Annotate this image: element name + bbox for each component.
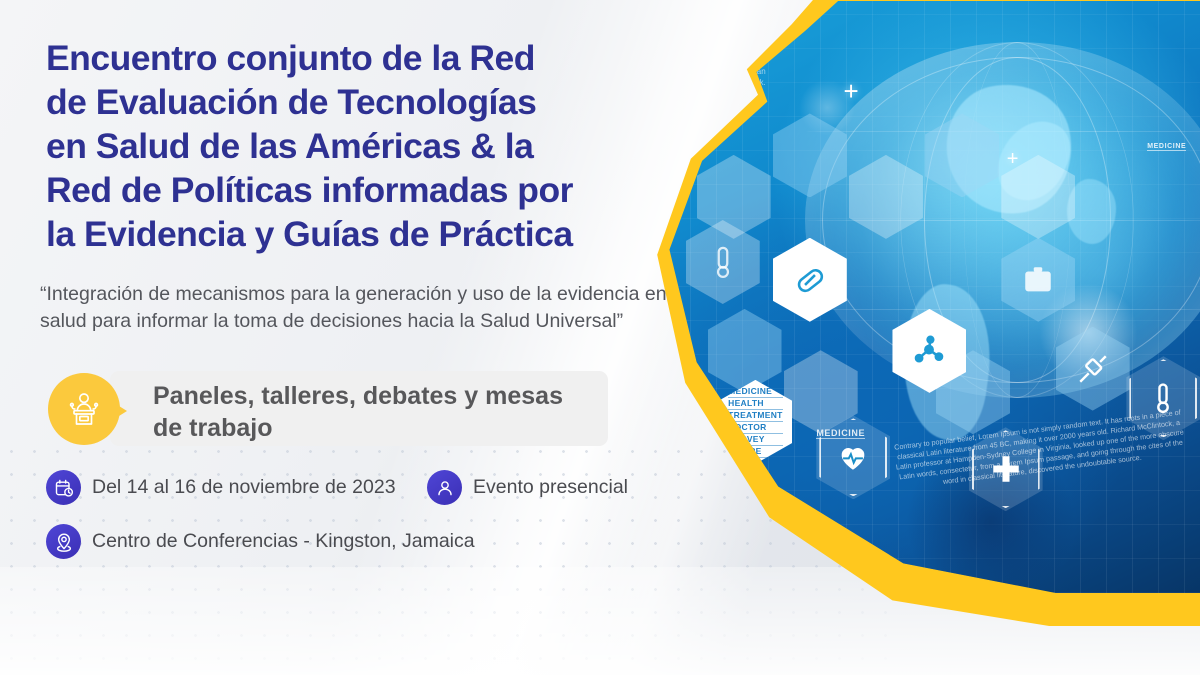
event-date: Del 14 al 16 de noviembre de 2023 xyxy=(92,476,396,499)
page-title: Encuentro conjunto de la Red de Evaluaci… xyxy=(46,36,656,256)
info-item-modality: Evento presencial xyxy=(427,470,628,505)
activities-label: Paneles, talleres, debates y mesas de tr… xyxy=(153,380,573,444)
info-item-venue: Centro de Conferencias - Kingston, Jamai… xyxy=(46,524,475,559)
calendar-clock-icon xyxy=(46,470,81,505)
event-venue: Centro de Conferencias - Kingston, Jamai… xyxy=(92,530,475,553)
event-theme-quote: “Integración de mecanismos para la gener… xyxy=(40,281,680,335)
info-item-date: Del 14 al 16 de noviembre de 2023 xyxy=(46,470,396,505)
hero-medicine-tag: MEDICINE xyxy=(1147,143,1186,151)
event-modality: Evento presencial xyxy=(473,476,628,499)
hex-tile xyxy=(708,309,782,393)
hex-tile xyxy=(773,113,847,197)
person-icon xyxy=(427,470,462,505)
title-line: en Salud de las Américas & la xyxy=(46,124,656,168)
speaker-podium-icon xyxy=(48,373,120,445)
title-line: Encuentro conjunto de la Red xyxy=(46,36,656,80)
pill-icon xyxy=(773,238,847,322)
location-pin-icon xyxy=(46,524,81,559)
title-line: la Evidencia y Guías de Práctica xyxy=(46,212,656,256)
hero-medicine-tag: MEDICINE xyxy=(816,428,865,439)
hero-image-container: standard when an type and en book. + + xyxy=(646,0,1200,626)
hex-tile xyxy=(925,113,999,197)
hex-tile xyxy=(1001,155,1075,239)
hex-tile xyxy=(849,155,923,239)
syringe-icon xyxy=(1056,327,1130,411)
hexagon-icon-grid: MEDICINE HEALTH TREATMENT DOCTOR SURVEY … xyxy=(664,1,1200,593)
first-aid-kit-icon xyxy=(1001,238,1075,322)
activities-highlight: Paneles, talleres, debates y mesas de tr… xyxy=(48,371,608,449)
partner-logo-bar: OPS Organización Panamericana de la Salu… xyxy=(0,575,1200,675)
event-poster: standard when an type and en book. + + xyxy=(0,0,1200,675)
medical-technology-globe-image: standard when an type and en book. + + xyxy=(664,1,1200,593)
title-line: Red de Políticas informadas por xyxy=(46,168,656,212)
thermometer-icon xyxy=(686,220,760,304)
title-line: de Evaluación de Tecnologías xyxy=(46,80,656,124)
